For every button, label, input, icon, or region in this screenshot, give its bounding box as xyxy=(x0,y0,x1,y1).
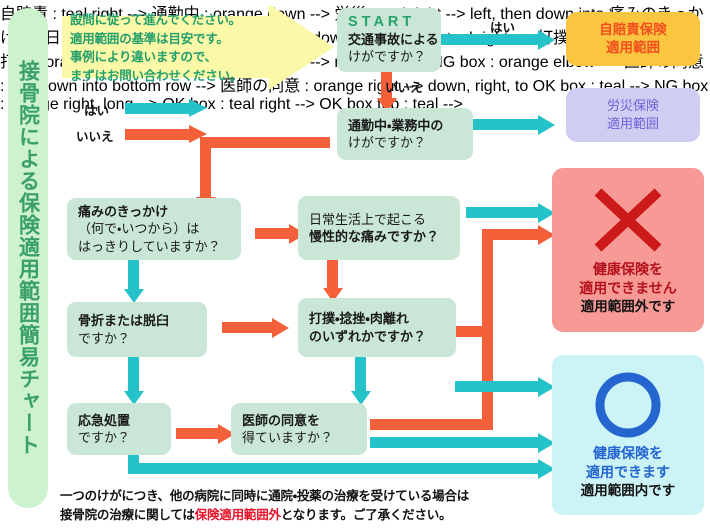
node-q-consent[interactable]: 医師の同意を 得ていますか？ xyxy=(231,403,367,455)
result-rousai-line-1: 労災保険 xyxy=(607,97,659,115)
edge-fracture-yes-bar xyxy=(128,357,139,391)
edge-start-yes-bar xyxy=(440,34,538,45)
node-q-trigger-line-2: （何で・いつから）は xyxy=(78,220,230,237)
circle-mark-icon xyxy=(590,370,666,440)
node-q-consent-line-1: 医師の同意を xyxy=(242,412,356,429)
node-q-consent-line-2: 得ていますか？ xyxy=(242,429,356,446)
edge-consent-yes-bar xyxy=(370,437,538,448)
node-q-fracture[interactable]: 骨折または脱臼 ですか？ xyxy=(67,302,207,357)
node-q-commute[interactable]: 通勤中・業務中の けがですか？ xyxy=(337,108,473,160)
instruction-line-4: まずはお問い合わせください。 xyxy=(70,67,300,86)
result-not-covered-line-2: 適用できません xyxy=(579,279,677,298)
cross-mark-icon xyxy=(588,184,668,256)
node-start-line-2: けがですか？ xyxy=(348,48,430,65)
result-covered-line-2: 適用できます xyxy=(586,463,670,482)
node-start[interactable]: START 交通事故による けがですか？ xyxy=(337,8,441,72)
result-rousai[interactable]: 労災保険 適用範囲 xyxy=(566,88,700,142)
edge-firstaid-yes-h xyxy=(128,463,538,474)
result-covered[interactable]: 健康保険を 適用できます 適用範囲内です xyxy=(552,355,704,515)
instruction-line-1: 設問に従って進んでください。 xyxy=(70,11,300,30)
node-q-fracture-line-1: 骨折または脱臼 xyxy=(78,312,196,329)
footnote-highlight: 保険適用範囲外 xyxy=(195,508,281,522)
node-q-sprain[interactable]: 打撲・捻挫・肉離れ のいずれかですか？ xyxy=(298,298,456,357)
result-jibaiseki[interactable]: 自賠責保険 適用範囲 xyxy=(566,12,700,66)
footnote-line-1: 一つのけがにつき、他の病院に同時に通院・投薬の治療を受けている場合は xyxy=(60,487,540,506)
edge-trigger-yes-bar xyxy=(128,259,139,289)
result-jibaiseki-line-1: 自賠責保険 xyxy=(599,21,667,39)
edge-commute-yes-bar xyxy=(472,119,538,130)
edge-commute-no-h xyxy=(200,137,330,148)
node-q-sprain-line-2: のいずれかですか？ xyxy=(309,328,445,345)
footnote-line-2-suffix: となります。ご了承ください。 xyxy=(281,508,452,522)
result-rousai-line-2: 適用範囲 xyxy=(607,115,659,133)
edge-consent-no-h xyxy=(370,419,482,430)
legend-yes-label: はい xyxy=(84,100,109,119)
edge-fracture-no-bar xyxy=(222,322,272,333)
edge-chronic-yes-bar xyxy=(466,207,538,218)
edge-commute-no-v xyxy=(200,137,211,197)
node-q-firstaid-line-1: 応急処置 xyxy=(78,412,160,429)
result-not-covered-line-1: 健康保険を xyxy=(593,260,663,279)
edge-chronic-no-bar xyxy=(327,260,338,288)
edge-sprain-no-h2 xyxy=(482,229,538,240)
node-q-chronic-line-2: 慢性的な痛みですか？ xyxy=(309,228,449,245)
legend-yes-arrow xyxy=(125,103,207,114)
edge-sprain-yes-v xyxy=(355,357,366,391)
node-q-chronic[interactable]: 日常生活上で起こる 慢性的な痛みですか？ xyxy=(298,196,460,260)
node-q-sprain-line-1: 打撲・捻挫・肉離れ xyxy=(309,310,445,327)
edge-sprain-ok-bar xyxy=(455,381,538,392)
edge-label-start-no: いいえ xyxy=(385,77,423,96)
edge-commute-yes-head xyxy=(538,115,555,135)
edge-trigger-no-bar xyxy=(255,228,289,239)
node-q-commute-line-2: けがですか？ xyxy=(348,134,462,151)
result-not-covered[interactable]: 健康保険を 適用できません 適用範囲外です xyxy=(552,168,704,332)
vertical-title-text: 接骨院による保険適用範囲簡易チャート xyxy=(18,60,39,456)
node-q-trigger[interactable]: 痛みのきっかけ （何で・いつから）は はっきりしていますか？ xyxy=(67,198,241,260)
start-caption: START xyxy=(348,15,430,31)
result-covered-sub: 適用範囲内です xyxy=(581,482,676,500)
vertical-title-bar: 接骨院による保険適用範囲簡易チャート xyxy=(8,8,48,508)
edge-start-yes-head xyxy=(538,30,555,50)
node-q-chronic-line-1: 日常生活上で起こる xyxy=(309,211,449,228)
result-jibaiseki-line-2: 適用範囲 xyxy=(606,39,660,57)
node-q-commute-line-1: 通勤中・業務中の xyxy=(348,117,462,134)
instruction-line-2: 適用範囲の基準は目安です。 xyxy=(70,30,300,49)
result-not-covered-sub: 適用範囲外です xyxy=(581,298,676,316)
edge-label-start-yes: はい xyxy=(490,17,515,36)
node-q-trigger-line-1: 痛みのきっかけ xyxy=(78,203,230,220)
footnote-line-2-prefix: 接骨院の治療に関しては xyxy=(60,508,195,522)
footnote-line-2: 接骨院の治療に関しては保険適用範囲外となります。ご了承ください。 xyxy=(60,506,540,525)
edge-firstaid-no-bar xyxy=(176,428,218,439)
node-q-fracture-line-2: ですか？ xyxy=(78,330,196,347)
edge-sprain-no-v xyxy=(482,229,493,337)
node-start-line-1: 交通事故による xyxy=(348,31,430,48)
node-q-firstaid-line-2: ですか？ xyxy=(78,429,160,446)
node-q-firstaid[interactable]: 応急処置 ですか？ xyxy=(67,403,171,455)
result-covered-line-1: 健康保険を xyxy=(593,444,663,463)
legend-no-arrow xyxy=(125,129,207,140)
insurance-flowchart: 接骨院による保険適用範囲簡易チャート 設問に従って進んでください。 適用範囲の基… xyxy=(0,0,710,530)
edge-fracture-no-head xyxy=(272,318,289,338)
instruction-line-3: 事例により違いますので、 xyxy=(70,48,300,67)
edge-trigger-yes-head xyxy=(124,289,144,303)
instruction-text: 設問に従って進んでください。 適用範囲の基準は目安です。 事例により違いますので… xyxy=(70,11,300,85)
node-q-trigger-line-3: はっきりしていますか？ xyxy=(78,238,230,255)
footnote: 一つのけがにつき、他の病院に同時に通院・投薬の治療を受けている場合は 接骨院の治… xyxy=(60,487,540,526)
legend-no-label: いいえ xyxy=(76,126,114,145)
